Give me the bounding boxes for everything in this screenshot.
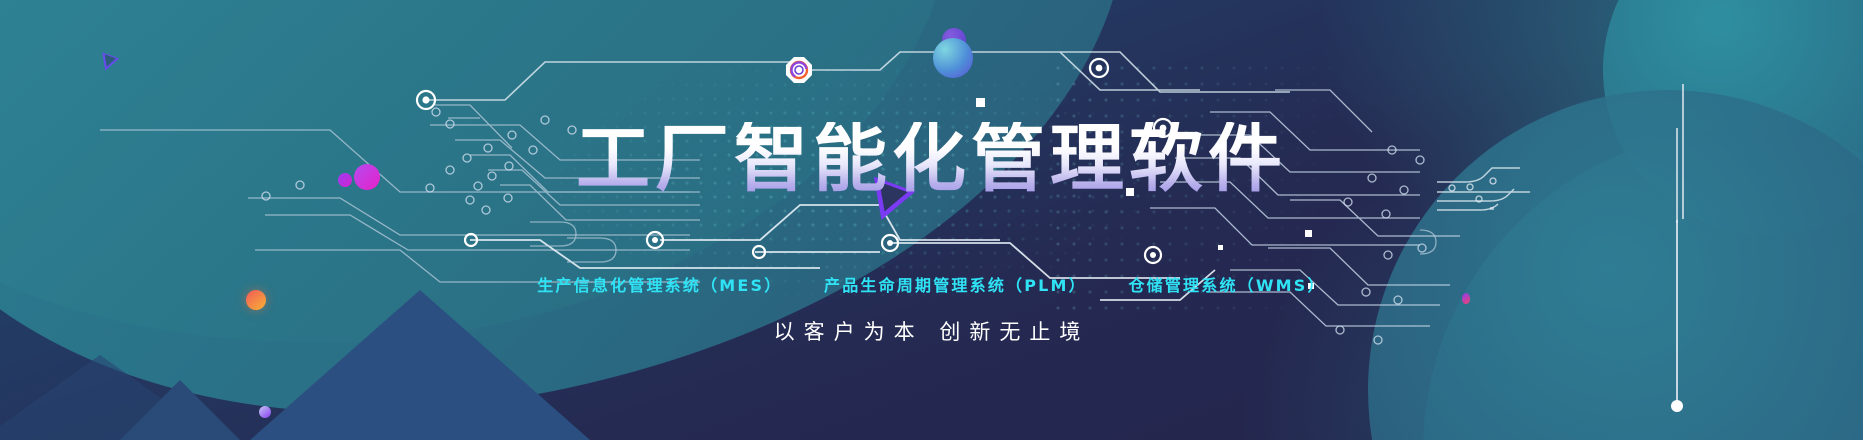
banner-title: 工厂智能化管理软件 <box>0 122 1863 196</box>
mountain-shape-left <box>120 380 240 440</box>
banner-subtitle: 生产信息化管理系统（MES） 产品生命周期管理系统（PLM） 仓储管理系统（WM… <box>0 272 1863 296</box>
promo-banner: 工厂智能化管理软件 生产信息化管理系统（MES） 产品生命周期管理系统（PLM）… <box>0 0 1863 440</box>
circuit-node-icon <box>785 56 813 84</box>
vertical-line-end-dot <box>1671 400 1683 412</box>
banner-tagline: 以客户为本 创新无止境 <box>0 316 1863 346</box>
vertical-line-c <box>1676 220 1678 400</box>
subtitle-item-wms: 仓储管理系统（WMS） <box>1128 272 1325 296</box>
gradient-sphere <box>933 38 973 78</box>
violet-dot <box>259 406 271 418</box>
subtitle-item-mes: 生产信息化管理系统（MES） <box>537 272 782 296</box>
subtitle-item-plm: 产品生命周期管理系统（PLM） <box>824 272 1087 296</box>
